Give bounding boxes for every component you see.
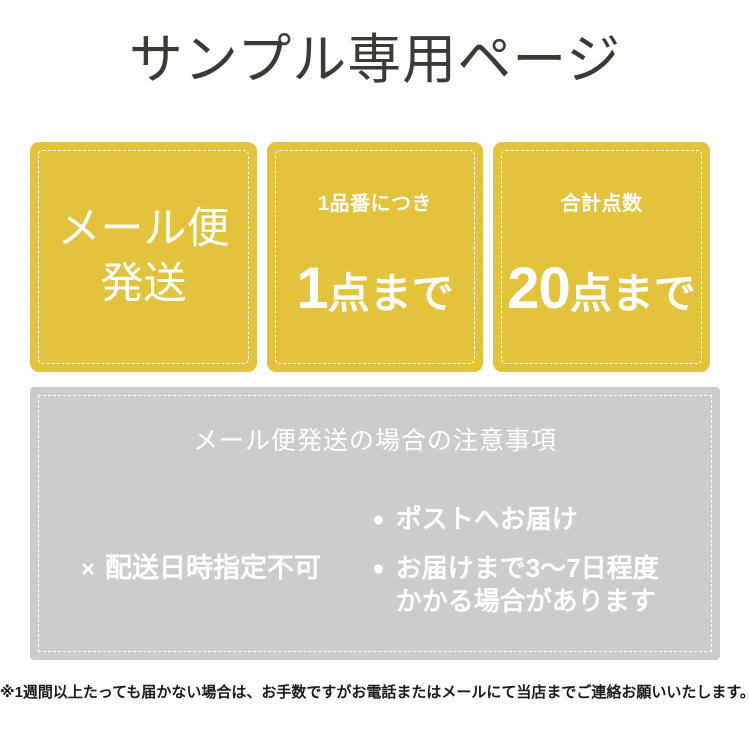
notice-body: ×配送日時指定不可 ● ポストへお届け ● お届けまで3〜7日程度 かかる場合が… [30,499,720,639]
cross-icon: × [81,556,95,583]
list-item: ● ポストへお届け [372,503,720,536]
list-item-line2: かかる場合があります [396,585,659,618]
list-item: ● お届けまで3〜7日程度 かかる場合があります [372,552,720,618]
footer-note: ※1週間以上たっても届かない場合は、お手数ですがお電話またはメールにて当店までご… [0,683,750,703]
card-total-items-unit: 点まで [570,265,696,323]
list-item-line1: お届けまで3〜7日程度 [396,553,659,583]
notice-no-date-designation: ×配送日時指定不可 [30,499,372,639]
card-per-item-number: 1 [296,260,327,318]
card-total-items-limit: 合計点数 20 点まで [493,142,710,372]
card-per-item-unit: 点まで [328,265,454,323]
card-per-item-value: 1 点まで [296,260,453,323]
list-item-text: お届けまで3〜7日程度 かかる場合があります [396,552,659,618]
card-mail-shipping-line1: メール便 [58,202,230,257]
card-mail-shipping-line2: 発送 [58,257,230,312]
card-per-item-limit: 1品番につき 1 点まで [267,142,483,372]
card-total-items-label: 合計点数 [561,192,643,216]
list-item-line1: ポストへお届け [396,504,578,534]
card-total-items-number: 20 [507,260,570,318]
card-mail-shipping-text: メール便 発送 [58,202,230,312]
notice-heading: メール便発送の場合の注意事項 [30,426,720,456]
notice-no-date-designation-text: ×配送日時指定不可 [81,552,321,586]
notice-panel: メール便発送の場合の注意事項 ×配送日時指定不可 ● ポストへお届け ● お届け… [30,387,720,660]
bullet-dot-icon: ● [372,503,385,536]
notice-bullet-list: ● ポストへお届け ● お届けまで3〜7日程度 かかる場合があります [372,499,720,618]
card-total-items-value: 20 点まで [507,260,696,323]
bullet-dot-icon: ● [372,552,385,585]
card-per-item-label: 1品番につき [318,192,432,216]
page-title: サンプル専用ページ [0,28,750,92]
info-card-row: メール便 発送 1品番につき 1 点まで 合計点数 20 点まで [30,142,720,372]
notice-no-date-designation-label: 配送日時指定不可 [105,553,321,583]
card-mail-shipping: メール便 発送 [30,142,257,372]
list-item-text: ポストへお届け [396,503,578,536]
